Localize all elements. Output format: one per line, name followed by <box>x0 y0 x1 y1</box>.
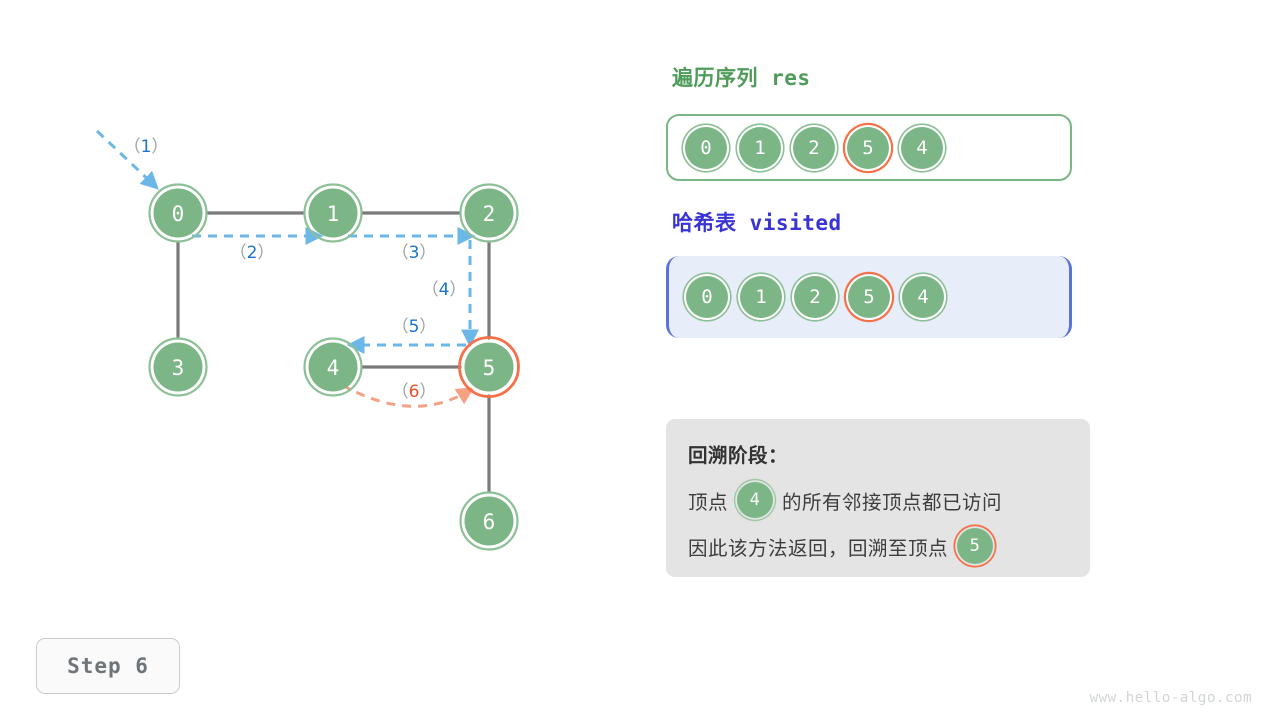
res-item-label: 2 <box>808 137 819 159</box>
visited-item: 2 <box>794 276 836 318</box>
visited-item-label: 0 <box>701 286 712 308</box>
res-item-highlighted: 5 <box>847 127 889 169</box>
note-line-2-prefix: 因此该方法返回，回溯至顶点 <box>688 532 948 561</box>
res-item-label: 0 <box>700 137 711 159</box>
graph-diagram: 0 1 2 3 4 <box>0 0 640 620</box>
res-item: 4 <box>901 127 943 169</box>
visited-item-label: 4 <box>917 286 928 308</box>
res-list: 0 1 2 5 4 <box>666 114 1072 181</box>
seq-label-5: （5） <box>392 317 437 337</box>
seq-label-3-close: ） <box>419 243 436 263</box>
res-item-label: 1 <box>754 137 765 159</box>
visited-heading: 哈希表 visited <box>672 207 842 237</box>
seq-label-2-open: （ <box>230 243 247 263</box>
graph-node-3[interactable]: 3 <box>150 339 207 396</box>
right-panel: 遍历序列 res 0 1 2 5 4 哈希表 visited 0 1 2 5 <box>666 0 1280 720</box>
seq-label-2-close: ） <box>257 243 274 263</box>
graph-panel: 0 1 2 3 4 <box>0 0 640 620</box>
graph-node-4[interactable]: 4 <box>305 339 362 396</box>
note-chip-vertex-5: 5 <box>957 528 993 564</box>
seq-label-2: （2） <box>230 243 275 263</box>
seq-label-5-num: 5 <box>409 317 420 337</box>
note-line-1-prefix: 顶点 <box>688 486 728 515</box>
note-card: 回溯阶段： 顶点 4 的所有邻接顶点都已访问 因此该方法返回，回溯至顶点 5 <box>666 419 1090 577</box>
graph-node-1-label: 1 <box>327 202 340 226</box>
seq-label-4-num: 4 <box>439 280 450 300</box>
graph-node-0[interactable]: 0 <box>150 185 207 242</box>
step-badge: Step 6 <box>36 638 180 694</box>
seq-label-2-num: 2 <box>247 243 258 263</box>
seq-label-6-num: 6 <box>409 382 420 402</box>
res-item: 0 <box>685 127 727 169</box>
seq-label-4-close: ） <box>449 280 466 300</box>
visited-item-highlighted: 5 <box>848 276 890 318</box>
visited-list: 0 1 2 5 4 <box>666 256 1072 338</box>
seq-label-3-num: 3 <box>409 243 420 263</box>
graph-node-6[interactable]: 6 <box>461 493 518 550</box>
visited-item-label: 2 <box>809 286 820 308</box>
note-chip-label: 4 <box>750 490 761 510</box>
graph-node-2[interactable]: 2 <box>461 185 518 242</box>
seq-label-3: （3） <box>392 243 437 263</box>
res-item: 2 <box>793 127 835 169</box>
visited-item: 0 <box>686 276 728 318</box>
graph-node-4-label: 4 <box>327 356 340 380</box>
traversal-arrows-forward <box>97 131 470 345</box>
visited-item: 4 <box>902 276 944 318</box>
seq-label-5-close: ） <box>419 317 436 337</box>
step-badge-label: Step 6 <box>67 654 149 678</box>
note-chip-label: 5 <box>970 536 981 556</box>
seq-label-6: （6） <box>392 382 437 402</box>
seq-label-1: （1） <box>124 137 169 157</box>
seq-label-4-open: （ <box>422 280 439 300</box>
graph-node-5[interactable]: 5 <box>460 338 519 397</box>
seq-label-4: （4） <box>422 280 467 300</box>
note-title: 回溯阶段： <box>688 439 1068 468</box>
seq-label-6-open: （ <box>392 382 409 402</box>
graph-node-3-label: 3 <box>172 356 185 380</box>
note-chip-vertex-4: 4 <box>737 482 773 518</box>
res-heading: 遍历序列 res <box>672 62 811 92</box>
note-line-1-suffix: 的所有邻接顶点都已访问 <box>782 486 1002 515</box>
seq-label-5-open: （ <box>392 317 409 337</box>
seq-label-1-close: ） <box>151 137 168 157</box>
graph-node-0-label: 0 <box>172 202 185 226</box>
graph-node-1[interactable]: 1 <box>305 185 362 242</box>
graph-node-5-label: 5 <box>483 356 496 380</box>
graph-node-6-label: 6 <box>483 510 496 534</box>
res-item-label: 4 <box>916 137 927 159</box>
visited-item-label: 5 <box>863 286 874 308</box>
visited-item: 1 <box>740 276 782 318</box>
seq-label-1-num: 1 <box>141 137 152 157</box>
seq-label-1-open: （ <box>124 137 141 157</box>
note-line-2: 因此该方法返回，回溯至顶点 5 <box>688 528 1068 564</box>
graph-nodes: 0 1 2 3 4 <box>150 185 519 550</box>
res-item: 1 <box>739 127 781 169</box>
seq-label-6-close: ） <box>419 382 436 402</box>
visited-item-label: 1 <box>755 286 766 308</box>
graph-node-2-label: 2 <box>483 202 496 226</box>
note-line-1: 顶点 4 的所有邻接顶点都已访问 <box>688 482 1068 518</box>
res-item-label: 5 <box>862 137 873 159</box>
seq-label-3-open: （ <box>392 243 409 263</box>
